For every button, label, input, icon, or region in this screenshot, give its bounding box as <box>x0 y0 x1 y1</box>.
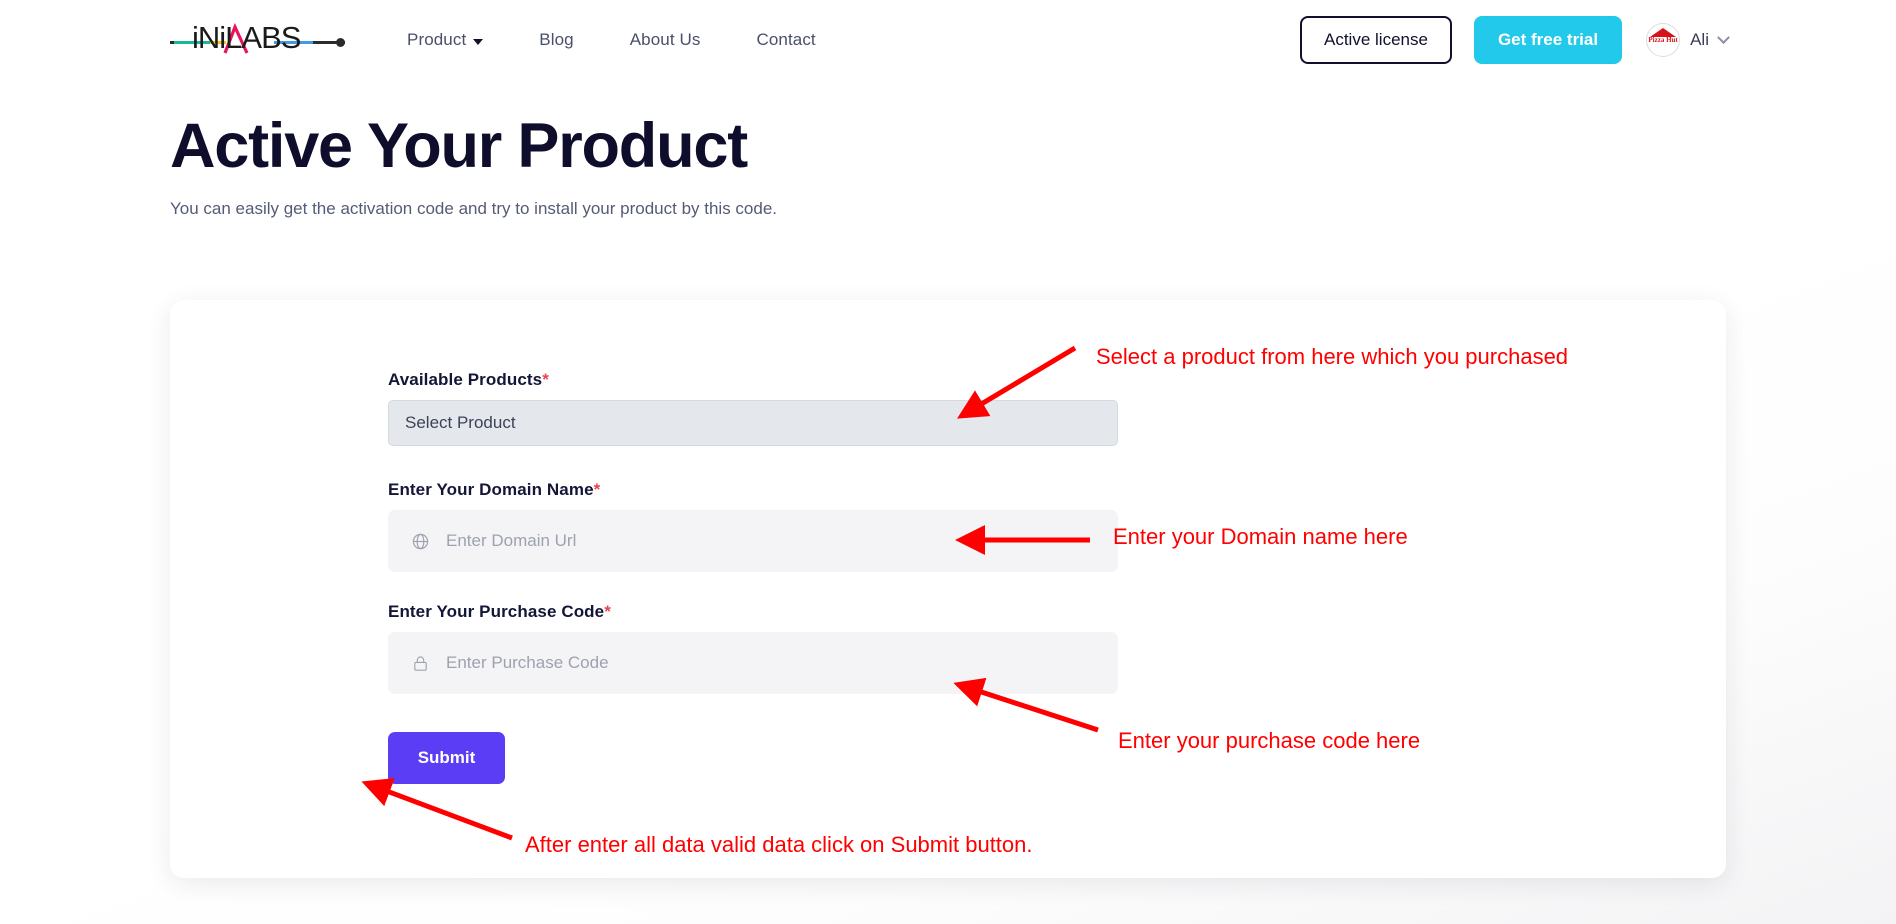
purchase-code-input[interactable]: Enter Purchase Code <box>388 632 1118 694</box>
activation-form: Available Products* Select Product Enter… <box>170 300 1726 784</box>
product-select-value: Select Product <box>405 413 516 433</box>
page-subtitle: You can easily get the activation code a… <box>170 199 1896 219</box>
purchase-code-label: Enter Your Purchase Code* <box>388 602 1726 622</box>
label-text: Enter Your Domain Name <box>388 480 594 499</box>
nav-item-product[interactable]: Product <box>407 30 483 50</box>
logo-dot-icon <box>336 38 345 47</box>
user-name-label: Ali <box>1690 30 1709 50</box>
lock-icon <box>410 653 430 673</box>
get-free-trial-button[interactable]: Get free trial <box>1474 16 1622 64</box>
page-title: Active Your Product <box>170 112 1896 181</box>
domain-input[interactable]: Enter Domain Url <box>388 510 1118 572</box>
required-asterisk: * <box>594 480 601 499</box>
nav-item-contact[interactable]: Contact <box>756 30 815 50</box>
field-purchase-code: Enter Your Purchase Code* Enter Purchase… <box>388 602 1726 694</box>
activation-card: Available Products* Select Product Enter… <box>170 300 1726 878</box>
required-asterisk: * <box>604 602 611 621</box>
globe-icon <box>410 531 430 551</box>
active-license-button[interactable]: Active license <box>1300 16 1452 64</box>
user-menu[interactable]: Pizza Hut Ali <box>1646 23 1728 57</box>
main-nav: Product Blog About Us Contact <box>407 30 816 50</box>
purchase-code-placeholder: Enter Purchase Code <box>446 653 609 673</box>
field-domain-name: Enter Your Domain Name* Enter Domain Url <box>388 480 1726 572</box>
nav-item-label: Contact <box>756 30 815 50</box>
page-header: Active Your Product You can easily get t… <box>0 80 1896 219</box>
field-available-products: Available Products* Select Product <box>388 370 1726 446</box>
chevron-down-icon <box>1717 31 1730 44</box>
nav-item-about-us[interactable]: About Us <box>630 30 701 50</box>
logo-wordmark: iNiLABS <box>192 22 300 53</box>
inilabs-logo[interactable]: iNiLABS <box>170 14 345 66</box>
required-asterisk: * <box>542 370 549 389</box>
label-text: Available Products <box>388 370 542 389</box>
domain-name-label: Enter Your Domain Name* <box>388 480 1726 500</box>
product-select[interactable]: Select Product <box>388 400 1118 446</box>
domain-input-placeholder: Enter Domain Url <box>446 531 576 551</box>
submit-button[interactable]: Submit <box>388 732 505 784</box>
nav-item-blog[interactable]: Blog <box>539 30 573 50</box>
label-text: Enter Your Purchase Code <box>388 602 604 621</box>
site-header: iNiLABS Product Blog About Us Contact Ac… <box>0 0 1896 80</box>
nav-item-label: Product <box>407 30 466 50</box>
nav-item-label: Blog <box>539 30 573 50</box>
header-actions: Active license Get free trial Pizza Hut … <box>1300 16 1728 64</box>
avatar-brand-label: Pizza Hut <box>1647 37 1679 44</box>
available-products-label: Available Products* <box>388 370 1726 390</box>
nav-item-label: About Us <box>630 30 701 50</box>
avatar: Pizza Hut <box>1646 23 1680 57</box>
chevron-down-icon <box>473 39 483 45</box>
